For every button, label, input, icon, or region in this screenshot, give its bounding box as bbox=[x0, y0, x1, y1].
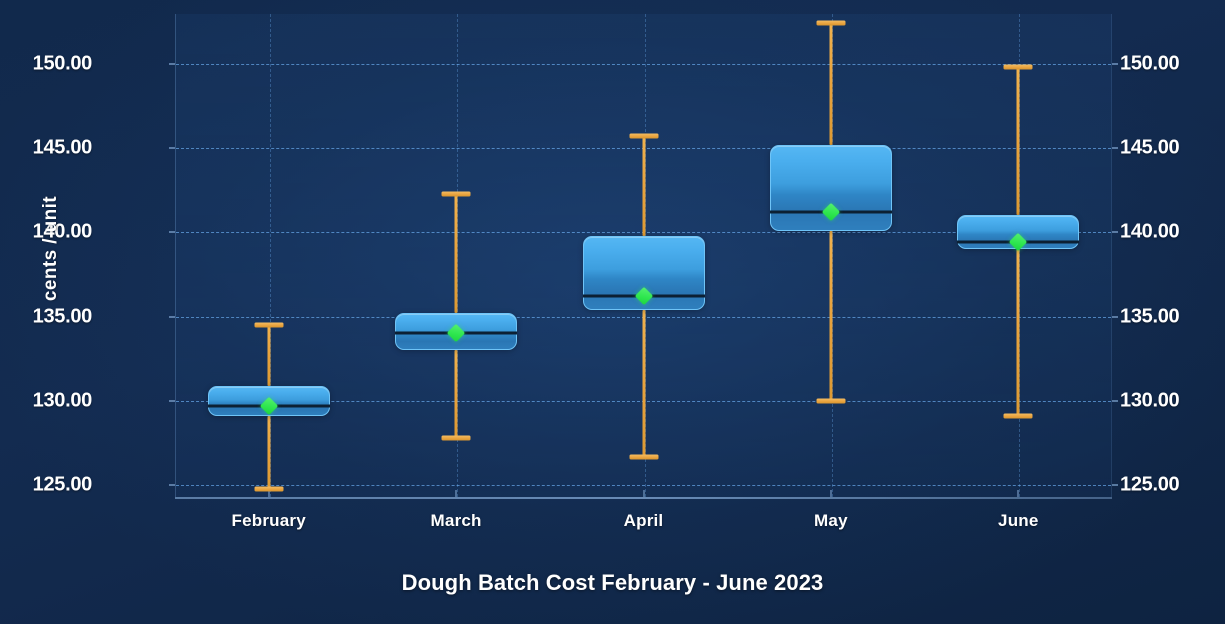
x-gridline bbox=[1019, 14, 1020, 497]
x-gridline bbox=[645, 14, 646, 497]
y-gridline bbox=[176, 232, 1111, 233]
plot-area bbox=[175, 14, 1112, 497]
x-axis-line bbox=[175, 497, 1112, 499]
y-axis-tick-label-right: 130.00 bbox=[1120, 389, 1179, 412]
y-axis-tick-label-right: 150.00 bbox=[1120, 52, 1179, 75]
x-axis-tick-mark bbox=[268, 490, 270, 497]
y-axis-tick-mark bbox=[169, 316, 175, 318]
y-axis-tick-mark bbox=[1112, 316, 1118, 318]
x-gridline bbox=[457, 14, 458, 497]
y-axis-tick-label-right: 125.00 bbox=[1120, 474, 1179, 497]
x-axis-tick-label-june: June bbox=[998, 511, 1038, 531]
y-axis-tick-label-left: 145.00 bbox=[33, 137, 92, 160]
y-axis-tick-label-left: 135.00 bbox=[33, 305, 92, 328]
y-gridline bbox=[176, 64, 1111, 65]
x-axis-tick-label-may: May bbox=[814, 511, 848, 531]
y-gridline bbox=[176, 317, 1111, 318]
x-axis-tick-mark bbox=[830, 490, 832, 497]
chart-canvas: 125.00125.00130.00130.00135.00135.00140.… bbox=[0, 0, 1225, 624]
y-axis-tick-mark bbox=[169, 484, 175, 486]
y-axis-tick-mark bbox=[169, 400, 175, 402]
y-axis-tick-mark bbox=[169, 231, 175, 233]
x-axis-tick-mark bbox=[1017, 490, 1019, 497]
x-gridline bbox=[832, 14, 833, 497]
x-gridline bbox=[270, 14, 271, 497]
x-axis-tick-mark bbox=[455, 490, 457, 497]
y-axis-tick-mark bbox=[1112, 147, 1118, 149]
y-axis-tick-label-left: 125.00 bbox=[33, 474, 92, 497]
y-axis-tick-label-left: 130.00 bbox=[33, 389, 92, 412]
y-axis-title: cents / unit bbox=[40, 196, 66, 301]
x-axis-tick-label-april: April bbox=[624, 511, 664, 531]
x-axis-tick-label-february: February bbox=[232, 511, 306, 531]
y-axis-tick-mark bbox=[1112, 231, 1118, 233]
y-axis-tick-mark bbox=[1112, 484, 1118, 486]
x-axis-tick-mark bbox=[643, 490, 645, 497]
y-axis-tick-label-right: 145.00 bbox=[1120, 137, 1179, 160]
y-axis-tick-mark bbox=[169, 63, 175, 65]
chart-title: Dough Batch Cost February - June 2023 bbox=[0, 570, 1225, 596]
y-axis-tick-label-right: 140.00 bbox=[1120, 221, 1179, 244]
y-gridline bbox=[176, 148, 1111, 149]
x-axis-tick-label-march: March bbox=[431, 511, 482, 531]
y-axis-tick-mark bbox=[1112, 400, 1118, 402]
y-axis-tick-mark bbox=[169, 147, 175, 149]
y-axis-tick-mark bbox=[1112, 63, 1118, 65]
y-axis-tick-label-left: 150.00 bbox=[33, 52, 92, 75]
y-gridline bbox=[176, 485, 1111, 486]
y-gridline bbox=[176, 401, 1111, 402]
y-axis-tick-label-right: 135.00 bbox=[1120, 305, 1179, 328]
